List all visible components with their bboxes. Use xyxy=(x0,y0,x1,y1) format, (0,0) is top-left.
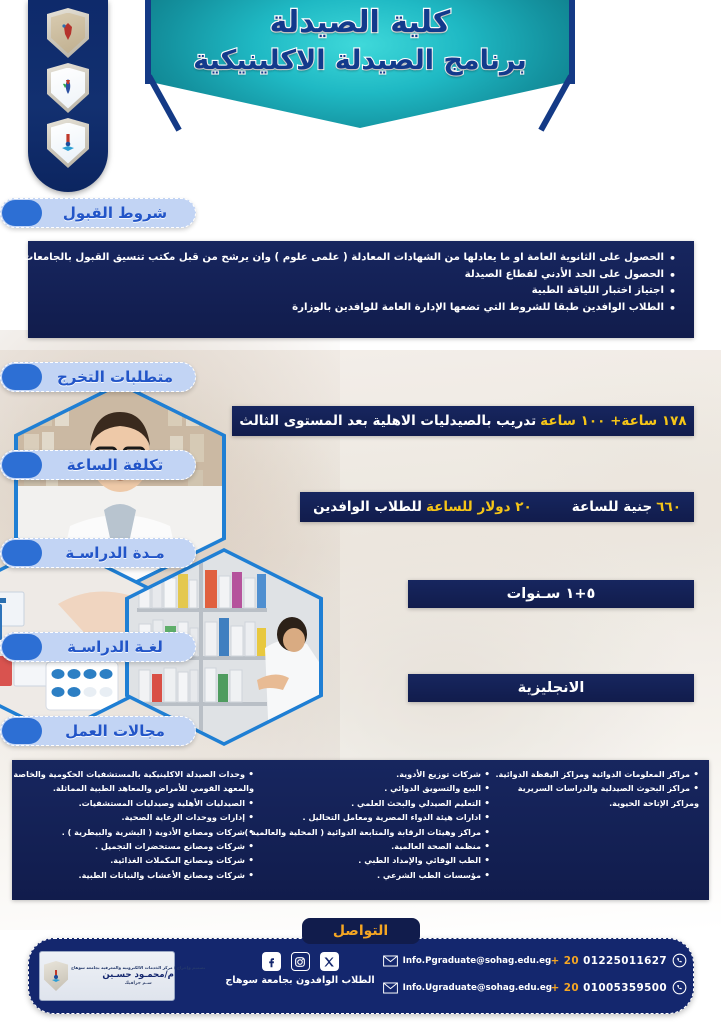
list-item: اجتياز اختبار اللياقة الطبية xyxy=(42,283,676,300)
envelope-icon[interactable] xyxy=(383,982,398,994)
list-item-continuation: والمعهد القومي للأمراض والمعاهد الطبية ا… xyxy=(22,781,254,795)
work-fields-badge-row: مجالات العمل xyxy=(0,716,721,746)
badge-cap xyxy=(2,540,42,566)
whatsapp-icon[interactable] xyxy=(672,980,687,995)
phone-number: + 20 01225011627 xyxy=(551,955,667,967)
list-item: شركات ومصانع مستحضرات التجميل . xyxy=(22,839,254,853)
badge-duration-label: مـدة الدراسـة xyxy=(43,539,195,567)
list-item: البيع والتسويق الدوائي . xyxy=(254,781,490,795)
list-item: وحدات الصيدلة الاكلينيكية بالمستشفيات ال… xyxy=(22,767,254,781)
designer-credit-badge: تصميم وإخراج / مركز الخدمات الالكترونية … xyxy=(39,951,175,1001)
graduation-detail: تدريب بالصيدليات الاهلية بعد المستوى الث… xyxy=(239,413,536,429)
graduation-requirements-panel: ١٧٨ ساعة+ ١٠٠ ساعة تدريب بالصيدليات الاه… xyxy=(232,406,694,436)
work-fields-column-middle: شركات توزيع الأدوية. البيع والتسويق الدو… xyxy=(254,767,490,893)
badge-admission-conditions[interactable]: شروط القبول xyxy=(0,198,196,228)
badge-graduation-label: متطلبات التخرج xyxy=(43,363,195,391)
logo-strip xyxy=(28,0,108,192)
phone-country-code: + 20 xyxy=(551,982,579,994)
list-item: شركات توزيع الأدوية. xyxy=(254,767,490,781)
hour-cost-value: ٦٦٠ جنية للساعة ٢٠ دولار للساعة للطلاب ا… xyxy=(300,492,694,522)
study-duration-panel: ٥+١ سـنوات xyxy=(408,580,694,608)
badge-cap xyxy=(2,452,42,478)
contact-panel: تصميم وإخراج / مركز الخدمات الالكترونية … xyxy=(28,938,694,1014)
duration-value: ٥+١ سـنوات xyxy=(408,580,694,608)
phone-cell[interactable]: + 20 01005359500 xyxy=(551,980,687,995)
badge-hour-cost[interactable]: تكلفة الساعة xyxy=(0,450,196,480)
list-item: التعليم الصيدلي والبحث العلمي . xyxy=(254,796,490,810)
badge-graduation-requirements[interactable]: متطلبات التخرج xyxy=(0,362,196,392)
work-fields-panel: مراكز المعلومات الدوائية ومراكز اليقظة ا… xyxy=(12,760,709,900)
study-language-panel: الانجليزية xyxy=(408,674,694,702)
list-item: مراكز المعلومات الدوائية ومراكز اليقظة ا… xyxy=(490,767,699,781)
hour-cost-egp-unit: جنية للساعة xyxy=(572,499,652,515)
badge-hour-cost-label: تكلفة الساعة xyxy=(43,451,195,479)
graduation-badge-row: متطلبات التخرج xyxy=(0,362,721,392)
education-shield-icon xyxy=(47,118,89,168)
badge-cap xyxy=(2,200,42,226)
credit-designer-name: م/محمـود حسـين xyxy=(71,970,205,981)
whatsapp-icon[interactable] xyxy=(672,953,687,968)
facebook-icon[interactable] xyxy=(262,952,281,971)
list-item: الحصول على الثانوية العامة او ما يعادلها… xyxy=(42,250,676,267)
social-caption: الطلاب الوافدون بجامعة سوهاج xyxy=(225,975,374,986)
email-address: Info.Pgraduate@sohag.edu.eg xyxy=(403,956,552,966)
graduation-value: ١٧٨ ساعة+ ١٠٠ ساعة تدريب بالصيدليات الاه… xyxy=(232,406,694,436)
hour-cost-egp-amount: ٦٦٠ xyxy=(656,499,681,515)
work-fields-column-left: مراكز المعلومات الدوائية ومراكز اليقظة ا… xyxy=(490,767,699,893)
hour-cost-panel: ٦٦٠ جنية للساعة ٢٠ دولار للساعة للطلاب ا… xyxy=(300,492,694,522)
x-twitter-icon[interactable] xyxy=(320,952,339,971)
hour-cost-usd-amount: ٢٠ دولار للساعة xyxy=(426,499,532,515)
phone-digits: 01225011627 xyxy=(583,955,667,967)
designer-credit-texts: تصميم وإخراج / مركز الخدمات الالكترونية … xyxy=(71,965,205,986)
badge-cap xyxy=(2,364,42,390)
graduation-hours-highlight: ١٧٨ ساعة+ ١٠٠ ساعة xyxy=(540,413,686,429)
credit-role: سـم جرافيك xyxy=(71,981,205,987)
badge-cap xyxy=(2,718,42,744)
contact-tab-label: التواصل xyxy=(302,918,420,944)
phone-country-code: + 20 xyxy=(551,955,579,967)
list-item: منظمة الصحة العالمية. xyxy=(254,839,490,853)
list-item: الصيدليات الأهلية وصيدليات المستشفيات. xyxy=(22,796,254,810)
badge-study-language[interactable]: لغـة الدراسـة xyxy=(0,632,196,662)
sohag-university-shield-icon xyxy=(47,8,89,58)
list-item: شركات ومصانع الأدوية ( البشرية والبيطرية… xyxy=(22,825,254,839)
pharmacy-college-shield-icon xyxy=(47,63,89,113)
list-item: مراكز وهيئات الرقابة والمتابعة الدوائية … xyxy=(254,825,490,839)
contact-row: + 20 01005359500 Info.Ugraduate@sohag.ed… xyxy=(393,980,687,995)
hour-cost-badge-row: تكلفة الساعة xyxy=(0,450,721,480)
list-item: مؤسسات الطب الشرعي . xyxy=(254,868,490,882)
duration-badge-row: مـدة الدراسـة xyxy=(0,538,721,568)
envelope-icon[interactable] xyxy=(383,955,398,967)
college-name: كلية الصيدلة xyxy=(150,4,570,42)
badge-study-duration[interactable]: مـدة الدراسـة xyxy=(0,538,196,568)
badge-language-label: لغـة الدراسـة xyxy=(43,633,195,661)
program-name: برنامج الصيدلة الاكلينيكية xyxy=(150,42,570,80)
phone-digits: 01005359500 xyxy=(583,982,667,994)
phone-number: + 20 01005359500 xyxy=(551,982,667,994)
admission-badge-row: شروط القبول xyxy=(0,198,721,228)
instagram-icon[interactable] xyxy=(291,952,310,971)
language-value: الانجليزية xyxy=(408,674,694,702)
list-item: الطلاب الوافدين طبقا للشروط التي تضعها ا… xyxy=(42,300,676,317)
badge-cap xyxy=(2,634,42,660)
badge-admission-label: شروط القبول xyxy=(43,199,195,227)
email-cell[interactable]: Info.Ugraduate@sohag.edu.eg xyxy=(383,982,543,994)
work-fields-column-right: وحدات الصيدلة الاكلينيكية بالمستشفيات ال… xyxy=(22,767,254,893)
contact-rows: + 20 01225011627 Info.Pgraduate@sohag.ed… xyxy=(393,949,687,995)
admission-conditions-panel: الحصول على الثانوية العامة او ما يعادلها… xyxy=(28,241,694,338)
poster-title: كلية الصيدلة برنامج الصيدلة الاكلينيكية xyxy=(150,4,570,79)
poster-root: كلية الصيدلة برنامج الصيدلة الاكلينيكية xyxy=(0,0,721,1024)
badge-work-fields-label: مجالات العمل xyxy=(43,717,195,745)
language-badge-row: لغـة الدراسـة xyxy=(0,632,721,662)
list-item: الحصول على الحد الأدني لقطاع الصيدلة xyxy=(42,267,676,284)
social-icons-row xyxy=(262,952,339,971)
social-media-block: الطلاب الوافدون بجامعة سوهاج xyxy=(211,952,389,986)
phone-cell[interactable]: + 20 01225011627 xyxy=(551,953,687,968)
list-item: شركات ومصانع الأعشاب والنباتات الطبية. xyxy=(22,868,254,882)
designer-seal-icon xyxy=(44,961,68,991)
list-item-continuation: ومراكز الإتاحة الحيوية. xyxy=(490,796,699,810)
list-item: مراكز البحوث الصيدلية والدراسات السريرية xyxy=(490,781,699,795)
email-address: Info.Ugraduate@sohag.edu.eg xyxy=(403,983,552,993)
list-item: ادارات هيئة الدواء المصرية ومعامل التحال… xyxy=(254,810,490,824)
list-item: الطب الوقائي والإمداد الطبي . xyxy=(254,853,490,867)
list-item: شركات ومصانع المكملات الغذائية. xyxy=(22,853,254,867)
contact-row: + 20 01225011627 Info.Pgraduate@sohag.ed… xyxy=(393,953,687,968)
badge-work-fields[interactable]: مجالات العمل xyxy=(0,716,196,746)
admission-conditions-list: الحصول على الثانوية العامة او ما يعادلها… xyxy=(28,241,694,325)
hour-cost-usd-note: للطلاب الوافدين xyxy=(313,499,422,515)
email-cell[interactable]: Info.Pgraduate@sohag.edu.eg xyxy=(383,955,543,967)
list-item: إدارات ووحدات الرعاية الصحية. xyxy=(22,810,254,824)
